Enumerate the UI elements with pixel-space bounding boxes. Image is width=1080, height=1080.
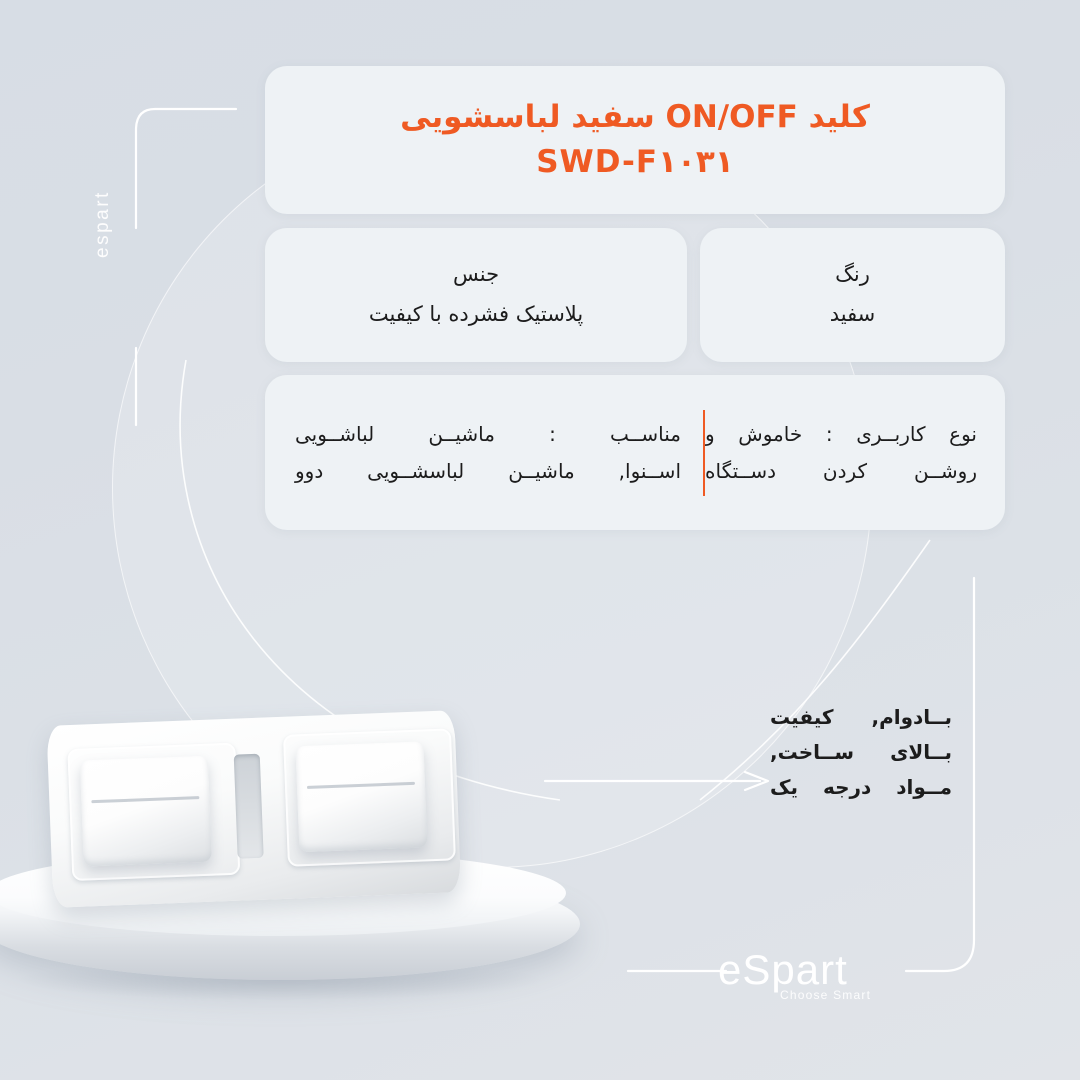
compatibility-block: مناســب : ماشیــن لباشــویی اســنوا, ماش… [265,416,703,490]
switch-rocker-left-seam [91,796,199,803]
spec-label-color: رنگ [835,255,870,295]
spec-label-material: جنس [453,255,499,295]
brand-logo-wordmark: eSpart [718,946,848,994]
switch-rocker-right [295,741,427,852]
spec-value-color: سفید [830,295,876,335]
brand-logo: eSpart Choose Smart [718,946,898,1002]
product-model-number: SWD-F۱۰۳۱ [536,140,734,185]
quality-callout-line-3: مــواد درجه یک [770,770,952,805]
usage-type-line-2: روشــن کردن دســتگاه [705,453,977,490]
quality-callout-line-2: بــالای ســاخت, [770,735,952,770]
brand-logo-tagline: Choose Smart [780,988,871,1002]
usage-card-divider [703,410,705,496]
usage-type-line-1: نوع کاربــری : خاموش و [705,416,977,453]
compatibility-line-2: اســنوا, ماشیــن لباسشــویی دوو [295,453,681,490]
decor-line-top-left [136,109,236,228]
spec-value-material: پلاستیک فشرده با کیفیت [369,295,583,335]
usage-type-block: نوع کاربــری : خاموش و روشــن کردن دســت… [705,416,1005,490]
spec-card-color: رنگ سفید [700,228,1005,362]
product-image [0,690,620,1080]
quality-callout-line-1: بــادوام, کیفیت [770,700,952,735]
decor-arrow-head [745,772,768,790]
page-title: کلید ON/OFF سفید لباسشویی [400,95,870,140]
compatibility-line-1: مناســب : ماشیــن لباشــویی [295,416,681,453]
product-switch [46,710,461,918]
title-card: کلید ON/OFF سفید لباسشویی SWD-F۱۰۳۱ [265,66,1005,214]
vertical-brand-label: espart [92,138,122,258]
quality-callout: بــادوام, کیفیت بــالای ســاخت, مــواد د… [770,700,952,805]
switch-rocker-right-seam [307,782,415,789]
spec-card-usage: نوع کاربــری : خاموش و روشــن کردن دســت… [265,375,1005,530]
switch-rocker-left [80,756,212,867]
switch-center-slot [234,754,264,859]
infographic-canvas: espart کلید ON/OFF سفید لباسشویی SWD-F۱۰… [0,0,1080,1080]
spec-card-material: جنس پلاستیک فشرده با کیفیت [265,228,687,362]
